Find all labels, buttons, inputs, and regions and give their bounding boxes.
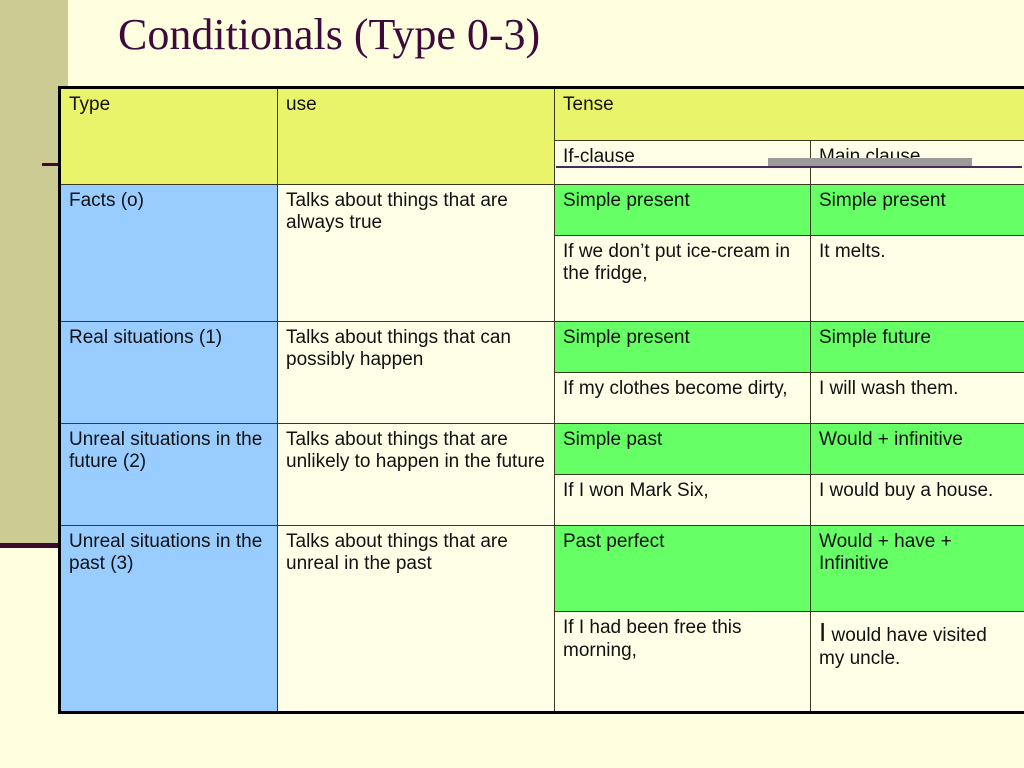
column-header-main-clause: Main clause <box>811 140 1024 184</box>
row-use-text: Talks about things that can possibly hap… <box>278 321 555 423</box>
row-example-main: I would have visited my uncle. <box>811 612 1024 713</box>
row-example-main: It melts. <box>811 235 1024 321</box>
decorative-baseline-rule <box>0 543 58 548</box>
column-header-if-clause: If-clause <box>555 140 811 184</box>
row-type-label: Facts (o) <box>60 184 278 321</box>
table-row: Unreal situations in the past (3) Talks … <box>60 525 1024 611</box>
row-use-text: Talks about things that are unlikely to … <box>278 423 555 525</box>
row-example-if: If my clothes become dirty, <box>555 372 811 423</box>
column-header-type: Type <box>60 88 278 185</box>
table-row: Real situations (1) Talks about things t… <box>60 321 1024 372</box>
row-tense-main: Simple future <box>811 321 1024 372</box>
table-row: Facts (o) Talks about things that are al… <box>60 184 1024 235</box>
row-tense-if: Simple past <box>555 423 811 474</box>
row-example-if: If I had been free this morning, <box>555 612 811 713</box>
row-tense-main: Simple present <box>811 184 1024 235</box>
column-header-tense: Tense <box>555 88 1024 141</box>
row-example-main: I will wash them. <box>811 372 1024 423</box>
row-tense-if: Simple present <box>555 184 811 235</box>
row-example-main: I would buy a house. <box>811 474 1024 525</box>
row-use-text: Talks about things that are unreal in th… <box>278 525 555 712</box>
row-use-text: Talks about things that are always true <box>278 184 555 321</box>
page-title: Conditionals (Type 0-3) <box>118 10 540 61</box>
row-example-main-rest: would have visited my uncle. <box>819 625 987 669</box>
row-tense-main: Would + infinitive <box>811 423 1024 474</box>
row-tense-if: Past perfect <box>555 525 811 611</box>
row-tense-if: Simple present <box>555 321 811 372</box>
table-row: Unreal situations in the future (2) Talk… <box>60 423 1024 474</box>
row-example-if: If I won Mark Six, <box>555 474 811 525</box>
row-example-if: If we don’t put ice-cream in the fridge, <box>555 235 811 321</box>
row-tense-main: Would + have + Infinitive <box>811 525 1024 611</box>
conditionals-table: Type use Tense If-clause Main clause Fac… <box>58 86 1024 714</box>
row-type-label: Real situations (1) <box>60 321 278 423</box>
column-header-use: use <box>278 88 555 185</box>
row-type-label: Unreal situations in the future (2) <box>60 423 278 525</box>
table-header-row: Type use Tense <box>60 88 1024 141</box>
row-type-label: Unreal situations in the past (3) <box>60 525 278 712</box>
